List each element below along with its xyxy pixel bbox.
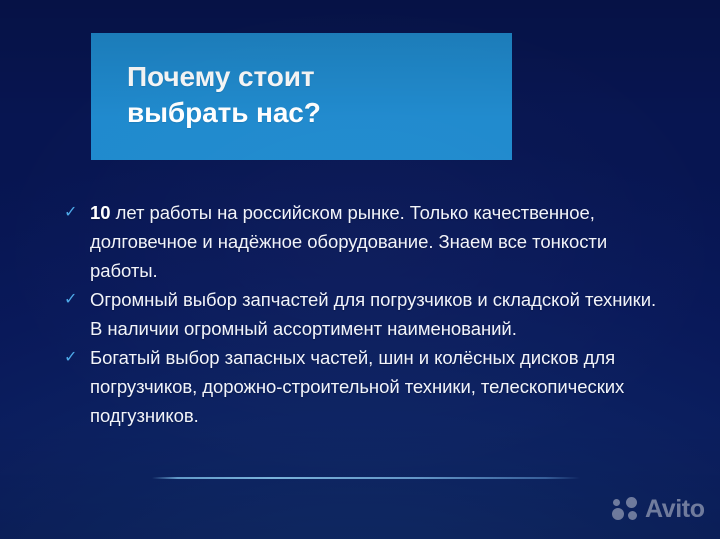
title-block: Почему стоит выбрать нас?	[127, 59, 502, 131]
bullet-list: ✓ 10 лет работы на российском рынке. Тол…	[62, 198, 672, 430]
list-item-body: Огромный выбор запчастей для погрузчиков…	[90, 289, 656, 339]
checkmark-icon: ✓	[62, 198, 90, 227]
horizontal-divider	[152, 477, 580, 479]
list-item-text: Богатый выбор запасных частей, шин и кол…	[90, 343, 672, 430]
title-banner: Почему стоит выбрать нас?	[91, 33, 512, 160]
slide-canvas: Почему стоит выбрать нас? ✓ 10 лет работ…	[0, 0, 720, 539]
list-item-text: Огромный выбор запчастей для погрузчиков…	[90, 285, 672, 343]
checkmark-icon: ✓	[62, 285, 90, 314]
checkmark-icon: ✓	[62, 343, 90, 372]
avito-dots-logo-icon	[612, 496, 642, 522]
list-item-lead: 10	[90, 202, 110, 223]
title-line-2: выбрать нас?	[127, 95, 502, 131]
list-item: ✓ 10 лет работы на российском рынке. Тол…	[62, 198, 672, 285]
list-item: ✓ Огромный выбор запчастей для погрузчик…	[62, 285, 672, 343]
list-item-body: лет работы на российском рынке. Только к…	[90, 202, 607, 281]
list-item: ✓ Богатый выбор запасных частей, шин и к…	[62, 343, 672, 430]
list-item-body: Богатый выбор запасных частей, шин и кол…	[90, 347, 624, 426]
avito-watermark: Avito	[612, 496, 705, 522]
avito-wordmark: Avito	[645, 496, 705, 522]
title-line-1: Почему стоит	[127, 59, 502, 95]
list-item-text: 10 лет работы на российском рынке. Тольк…	[90, 198, 672, 285]
